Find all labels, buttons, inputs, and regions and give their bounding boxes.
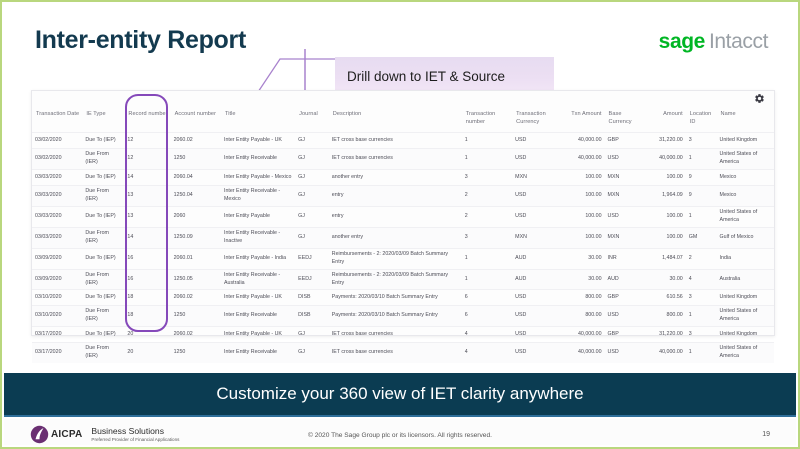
- cell-base-currency: MXN: [605, 186, 647, 207]
- cell-ie-type: Due From (IER): [82, 343, 124, 363]
- cell-base-currency: MXN: [605, 170, 647, 186]
- cell-transaction-number[interactable]: 3: [462, 227, 512, 248]
- cell-base-currency: MXN: [605, 227, 647, 248]
- cell-journal: GJ: [295, 206, 329, 227]
- cell-ie-type: Due To (IEP): [82, 327, 124, 343]
- table-header-row: Transaction Date IE Type Record number A…: [32, 108, 774, 133]
- table-row[interactable]: 03/10/2020Due From (IER)181250Inter Enti…: [32, 306, 774, 327]
- cell-txn-amount: 800.00: [563, 306, 605, 327]
- cell-record-number[interactable]: 13: [124, 186, 170, 207]
- cell-transaction-date: 03/02/2020: [32, 149, 82, 170]
- cell-transaction-date: 03/09/2020: [32, 248, 82, 269]
- cell-record-number[interactable]: 18: [124, 290, 170, 306]
- cell-transaction-number[interactable]: 4: [462, 343, 512, 363]
- cell-journal: GJ: [295, 327, 329, 343]
- col-header-title[interactable]: Title: [221, 108, 295, 133]
- cell-name: United Kingdom: [717, 327, 774, 343]
- cell-ie-type: Due From (IER): [82, 227, 124, 248]
- cell-name: United States of America: [717, 343, 774, 363]
- cell-name: United States of America: [717, 306, 774, 327]
- cell-location-id[interactable]: GM: [686, 227, 717, 248]
- cell-txn-amount: 40,000.00: [563, 343, 605, 363]
- cell-transaction-currency: USD: [512, 133, 562, 149]
- cell-transaction-number[interactable]: 4: [462, 327, 512, 343]
- cell-name: Mexico: [717, 170, 774, 186]
- cell-title: Inter Entity Payable - India: [221, 248, 295, 269]
- banner-text: Customize your 360 view of IET clarity a…: [216, 384, 583, 404]
- cell-txn-amount: 40,000.00: [563, 327, 605, 343]
- cell-record-number[interactable]: 14: [124, 170, 170, 186]
- cell-base-currency: GBP: [605, 290, 647, 306]
- cell-transaction-date: 03/17/2020: [32, 343, 82, 363]
- col-header-transaction-date[interactable]: Transaction Date: [32, 108, 82, 133]
- cell-transaction-date: 03/03/2020: [32, 170, 82, 186]
- cell-name: Gulf of Mexico: [717, 227, 774, 248]
- cell-transaction-number[interactable]: 2: [462, 206, 512, 227]
- cell-transaction-currency: MXN: [512, 170, 562, 186]
- cell-base-currency: GBP: [605, 133, 647, 149]
- col-header-ie-type[interactable]: IE Type: [82, 108, 124, 133]
- cell-transaction-currency: USD: [512, 186, 562, 207]
- cell-title: Inter Entity Payable - UK: [221, 290, 295, 306]
- cell-transaction-number[interactable]: 2: [462, 186, 512, 207]
- cell-description: IET cross base currencies: [329, 133, 462, 149]
- cell-record-number[interactable]: 14: [124, 227, 170, 248]
- cell-transaction-date: 03/02/2020: [32, 133, 82, 149]
- cell-transaction-currency: USD: [512, 290, 562, 306]
- page-title: Inter-entity Report: [35, 26, 246, 55]
- cell-txn-amount: 100.00: [563, 227, 605, 248]
- cell-location-id[interactable]: 1: [686, 306, 717, 327]
- cell-transaction-date: 03/03/2020: [32, 227, 82, 248]
- cell-transaction-currency: MXN: [512, 227, 562, 248]
- cell-transaction-date: 03/10/2020: [32, 290, 82, 306]
- cell-amount: 800.00: [647, 306, 686, 327]
- cell-amount: 610.56: [647, 290, 686, 306]
- col-header-transaction-currency[interactable]: Transaction Currency: [512, 108, 562, 133]
- cell-title: Inter Entity Receivable: [221, 306, 295, 327]
- cell-description: Reimbursements - 2: 2020/03/09 Batch Sum…: [329, 269, 462, 290]
- cell-account-number[interactable]: 2060.02: [171, 133, 221, 149]
- cell-transaction-currency: AUD: [512, 248, 562, 269]
- cell-transaction-number[interactable]: 1: [462, 248, 512, 269]
- cell-journal: GJ: [295, 149, 329, 170]
- cell-base-currency: AUD: [605, 269, 647, 290]
- cell-description: Reimbursements - 2: 2020/03/09 Batch Sum…: [329, 248, 462, 269]
- cell-title: Inter Entity Receivable: [221, 149, 295, 170]
- cell-journal: GJ: [295, 133, 329, 149]
- cell-amount: 31,220.00: [647, 327, 686, 343]
- cell-amount: 100.00: [647, 170, 686, 186]
- cell-title: Inter Entity Payable: [221, 206, 295, 227]
- cell-transaction-date: 03/09/2020: [32, 269, 82, 290]
- cell-transaction-currency: USD: [512, 327, 562, 343]
- cell-ie-type: Due From (IER): [82, 186, 124, 207]
- cell-amount: 100.00: [647, 227, 686, 248]
- col-header-description[interactable]: Description: [329, 108, 462, 133]
- cell-name: United Kingdom: [717, 133, 774, 149]
- cell-location-id[interactable]: 1: [686, 149, 717, 170]
- cell-description: entry: [329, 206, 462, 227]
- cell-title: Inter Entity Receivable: [221, 343, 295, 363]
- table-row[interactable]: 03/03/2020Due From (IER)131250.04Inter E…: [32, 186, 774, 207]
- cell-transaction-number[interactable]: 6: [462, 306, 512, 327]
- cell-name: Australia: [717, 269, 774, 290]
- col-header-account-number[interactable]: Account number: [171, 108, 221, 133]
- cell-account-number[interactable]: 2060.02: [171, 327, 221, 343]
- cell-name: United Kingdom: [717, 290, 774, 306]
- cell-record-number[interactable]: 18: [124, 306, 170, 327]
- table-body: 03/02/2020Due To (IEP)122060.02Inter Ent…: [32, 133, 774, 364]
- cell-txn-amount: 100.00: [563, 206, 605, 227]
- cell-title: Inter Entity Payable - UK: [221, 133, 295, 149]
- cell-journal: GJ: [295, 227, 329, 248]
- cell-amount: 1,484.07: [647, 248, 686, 269]
- cell-base-currency: USD: [605, 343, 647, 363]
- cell-ie-type: Due From (IER): [82, 269, 124, 290]
- cell-base-currency: GBP: [605, 327, 647, 343]
- cell-journal: DISB: [295, 306, 329, 327]
- cell-account-number[interactable]: 2060.01: [171, 248, 221, 269]
- cell-transaction-currency: USD: [512, 343, 562, 363]
- table-row[interactable]: 03/02/2020Due From (IER)121250Inter Enti…: [32, 149, 774, 170]
- cell-txn-amount: 800.00: [563, 290, 605, 306]
- cell-ie-type: Due To (IEP): [82, 170, 124, 186]
- footer: AICPA Business Solutions Preferred Provi…: [4, 419, 796, 445]
- cell-base-currency: INR: [605, 248, 647, 269]
- cell-transaction-currency: USD: [512, 149, 562, 170]
- cell-ie-type: Due To (IEP): [82, 248, 124, 269]
- table-row[interactable]: 03/17/2020Due To (IEP)202060.02Inter Ent…: [32, 327, 774, 343]
- cell-location-id[interactable]: 1: [686, 206, 717, 227]
- cell-account-number[interactable]: 1250: [171, 149, 221, 170]
- cell-txn-amount: 100.00: [563, 186, 605, 207]
- cell-amount: 40,000.00: [647, 149, 686, 170]
- cell-txn-amount: 40,000.00: [563, 149, 605, 170]
- cell-ie-type: Due To (IEP): [82, 133, 124, 149]
- cell-amount: 100.00: [647, 206, 686, 227]
- col-header-location-id[interactable]: Location ID: [686, 108, 717, 133]
- banner: Customize your 360 view of IET clarity a…: [4, 373, 796, 417]
- cell-location-id[interactable]: 3: [686, 290, 717, 306]
- cell-record-number[interactable]: 20: [124, 343, 170, 363]
- cell-location-id[interactable]: 3: [686, 327, 717, 343]
- cell-base-currency: USD: [605, 206, 647, 227]
- cell-amount: 40,000.00: [647, 343, 686, 363]
- report-table-card: Transaction Date IE Type Record number A…: [31, 90, 775, 336]
- cell-name: Mexico: [717, 186, 774, 207]
- cell-title: Inter Entity Receivable - Mexico: [221, 186, 295, 207]
- cell-journal: GJ: [295, 186, 329, 207]
- col-header-journal[interactable]: Journal: [295, 108, 329, 133]
- cell-title: Inter Entity Receivable - Australia: [221, 269, 295, 290]
- table-row[interactable]: 03/02/2020Due To (IEP)122060.02Inter Ent…: [32, 133, 774, 149]
- cell-description: IET cross base currencies: [329, 149, 462, 170]
- cell-name: United States of America: [717, 206, 774, 227]
- cell-description: IET cross base currencies: [329, 343, 462, 363]
- table-row[interactable]: 03/17/2020Due From (IER)201250Inter Enti…: [32, 343, 774, 363]
- cell-ie-type: Due To (IEP): [82, 206, 124, 227]
- cell-ie-type: Due From (IER): [82, 149, 124, 170]
- cell-title: Inter Entity Payable - Mexico: [221, 170, 295, 186]
- cell-description: entry: [329, 186, 462, 207]
- cell-transaction-number[interactable]: 1: [462, 269, 512, 290]
- table-toolbar: [32, 91, 774, 108]
- cell-description: Payments: 2020/03/10 Batch Summary Entry: [329, 290, 462, 306]
- cell-location-id[interactable]: 9: [686, 186, 717, 207]
- cell-title: Inter Entity Payable - UK: [221, 327, 295, 343]
- cell-amount: 31,220.00: [647, 133, 686, 149]
- cell-location-id[interactable]: 3: [686, 133, 717, 149]
- page-number: 19: [762, 431, 770, 438]
- cell-transaction-currency: AUD: [512, 269, 562, 290]
- col-header-txn-amount[interactable]: Txn Amount: [563, 108, 605, 133]
- cell-record-number[interactable]: 16: [124, 269, 170, 290]
- cell-transaction-date: 03/03/2020: [32, 206, 82, 227]
- cell-name: United States of America: [717, 149, 774, 170]
- cell-account-number[interactable]: 1250: [171, 343, 221, 363]
- table-row[interactable]: 03/03/2020Due To (IEP)132060Inter Entity…: [32, 206, 774, 227]
- cell-base-currency: USD: [605, 149, 647, 170]
- cell-transaction-number[interactable]: 6: [462, 290, 512, 306]
- cell-base-currency: USD: [605, 306, 647, 327]
- cell-description: IET cross base currencies: [329, 327, 462, 343]
- cell-journal: GJ: [295, 343, 329, 363]
- cell-account-number[interactable]: 1250.04: [171, 186, 221, 207]
- col-header-transaction-number[interactable]: Transaction number: [462, 108, 512, 133]
- col-header-amount[interactable]: Amount: [647, 108, 686, 133]
- callout-text: Drill down to IET & Source: [335, 69, 505, 84]
- col-header-record-number[interactable]: Record number: [124, 108, 170, 133]
- sage-intacct-logo: sageIntacct: [659, 30, 768, 54]
- cell-transaction-currency: USD: [512, 306, 562, 327]
- cell-location-id[interactable]: 4: [686, 269, 717, 290]
- col-header-name[interactable]: Name: [717, 108, 774, 133]
- cell-journal: DISB: [295, 290, 329, 306]
- cell-transaction-number[interactable]: 3: [462, 170, 512, 186]
- intacct-wordmark: Intacct: [709, 30, 768, 53]
- cell-amount: 1,964.09: [647, 186, 686, 207]
- cell-account-number[interactable]: 2060: [171, 206, 221, 227]
- sage-wordmark: sage: [659, 30, 705, 53]
- cell-name: India: [717, 248, 774, 269]
- cell-account-number[interactable]: 2060.04: [171, 170, 221, 186]
- cell-location-id[interactable]: 1: [686, 343, 717, 363]
- cell-location-id[interactable]: 2: [686, 248, 717, 269]
- cell-amount: 30.00: [647, 269, 686, 290]
- cell-journal: GJ: [295, 170, 329, 186]
- table-row[interactable]: 03/03/2020Due From (IER)141250.09Inter E…: [32, 227, 774, 248]
- cell-transaction-date: 03/10/2020: [32, 306, 82, 327]
- cell-record-number[interactable]: 12: [124, 149, 170, 170]
- cell-record-number[interactable]: 13: [124, 206, 170, 227]
- cell-txn-amount: 30.00: [563, 248, 605, 269]
- cell-account-number[interactable]: 2060.02: [171, 290, 221, 306]
- col-header-base-currency[interactable]: Base Currency: [605, 108, 647, 133]
- cell-account-number[interactable]: 1250.05: [171, 269, 221, 290]
- cell-account-number[interactable]: 1250: [171, 306, 221, 327]
- cell-record-number[interactable]: 20: [124, 327, 170, 343]
- cell-transaction-number[interactable]: 1: [462, 149, 512, 170]
- cell-txn-amount: 40,000.00: [563, 133, 605, 149]
- table-row[interactable]: 03/03/2020Due To (IEP)142060.04Inter Ent…: [32, 170, 774, 186]
- cell-txn-amount: 100.00: [563, 170, 605, 186]
- cell-location-id[interactable]: 9: [686, 170, 717, 186]
- cell-title: Inter Entity Receivable - Inactive: [221, 227, 295, 248]
- copyright-text: © 2020 The Sage Group plc or its licenso…: [4, 432, 796, 439]
- cell-transaction-number[interactable]: 1: [462, 133, 512, 149]
- cell-transaction-date: 03/03/2020: [32, 186, 82, 207]
- cell-ie-type: Due To (IEP): [82, 290, 124, 306]
- cell-txn-amount: 30.00: [563, 269, 605, 290]
- cell-description: another entry: [329, 227, 462, 248]
- table-row[interactable]: 03/09/2020Due To (IEP)162060.01Inter Ent…: [32, 248, 774, 269]
- cell-journal: EEDJ: [295, 269, 329, 290]
- cell-transaction-date: 03/17/2020: [32, 327, 82, 343]
- cell-ie-type: Due From (IER): [82, 306, 124, 327]
- cell-transaction-currency: USD: [512, 206, 562, 227]
- cell-record-number[interactable]: 16: [124, 248, 170, 269]
- cell-description: Payments: 2020/03/10 Batch Summary Entry: [329, 306, 462, 327]
- gear-icon[interactable]: [754, 93, 765, 104]
- cell-record-number[interactable]: 12: [124, 133, 170, 149]
- inter-entity-report-table: Transaction Date IE Type Record number A…: [32, 108, 774, 363]
- cell-account-number[interactable]: 1250.09: [171, 227, 221, 248]
- slide: Inter-entity Report sageIntacct Drill do…: [0, 0, 800, 449]
- table-row[interactable]: 03/10/2020Due To (IEP)182060.02Inter Ent…: [32, 290, 774, 306]
- cell-description: another entry: [329, 170, 462, 186]
- table-row[interactable]: 03/09/2020Due From (IER)161250.05Inter E…: [32, 269, 774, 290]
- cell-journal: EEDJ: [295, 248, 329, 269]
